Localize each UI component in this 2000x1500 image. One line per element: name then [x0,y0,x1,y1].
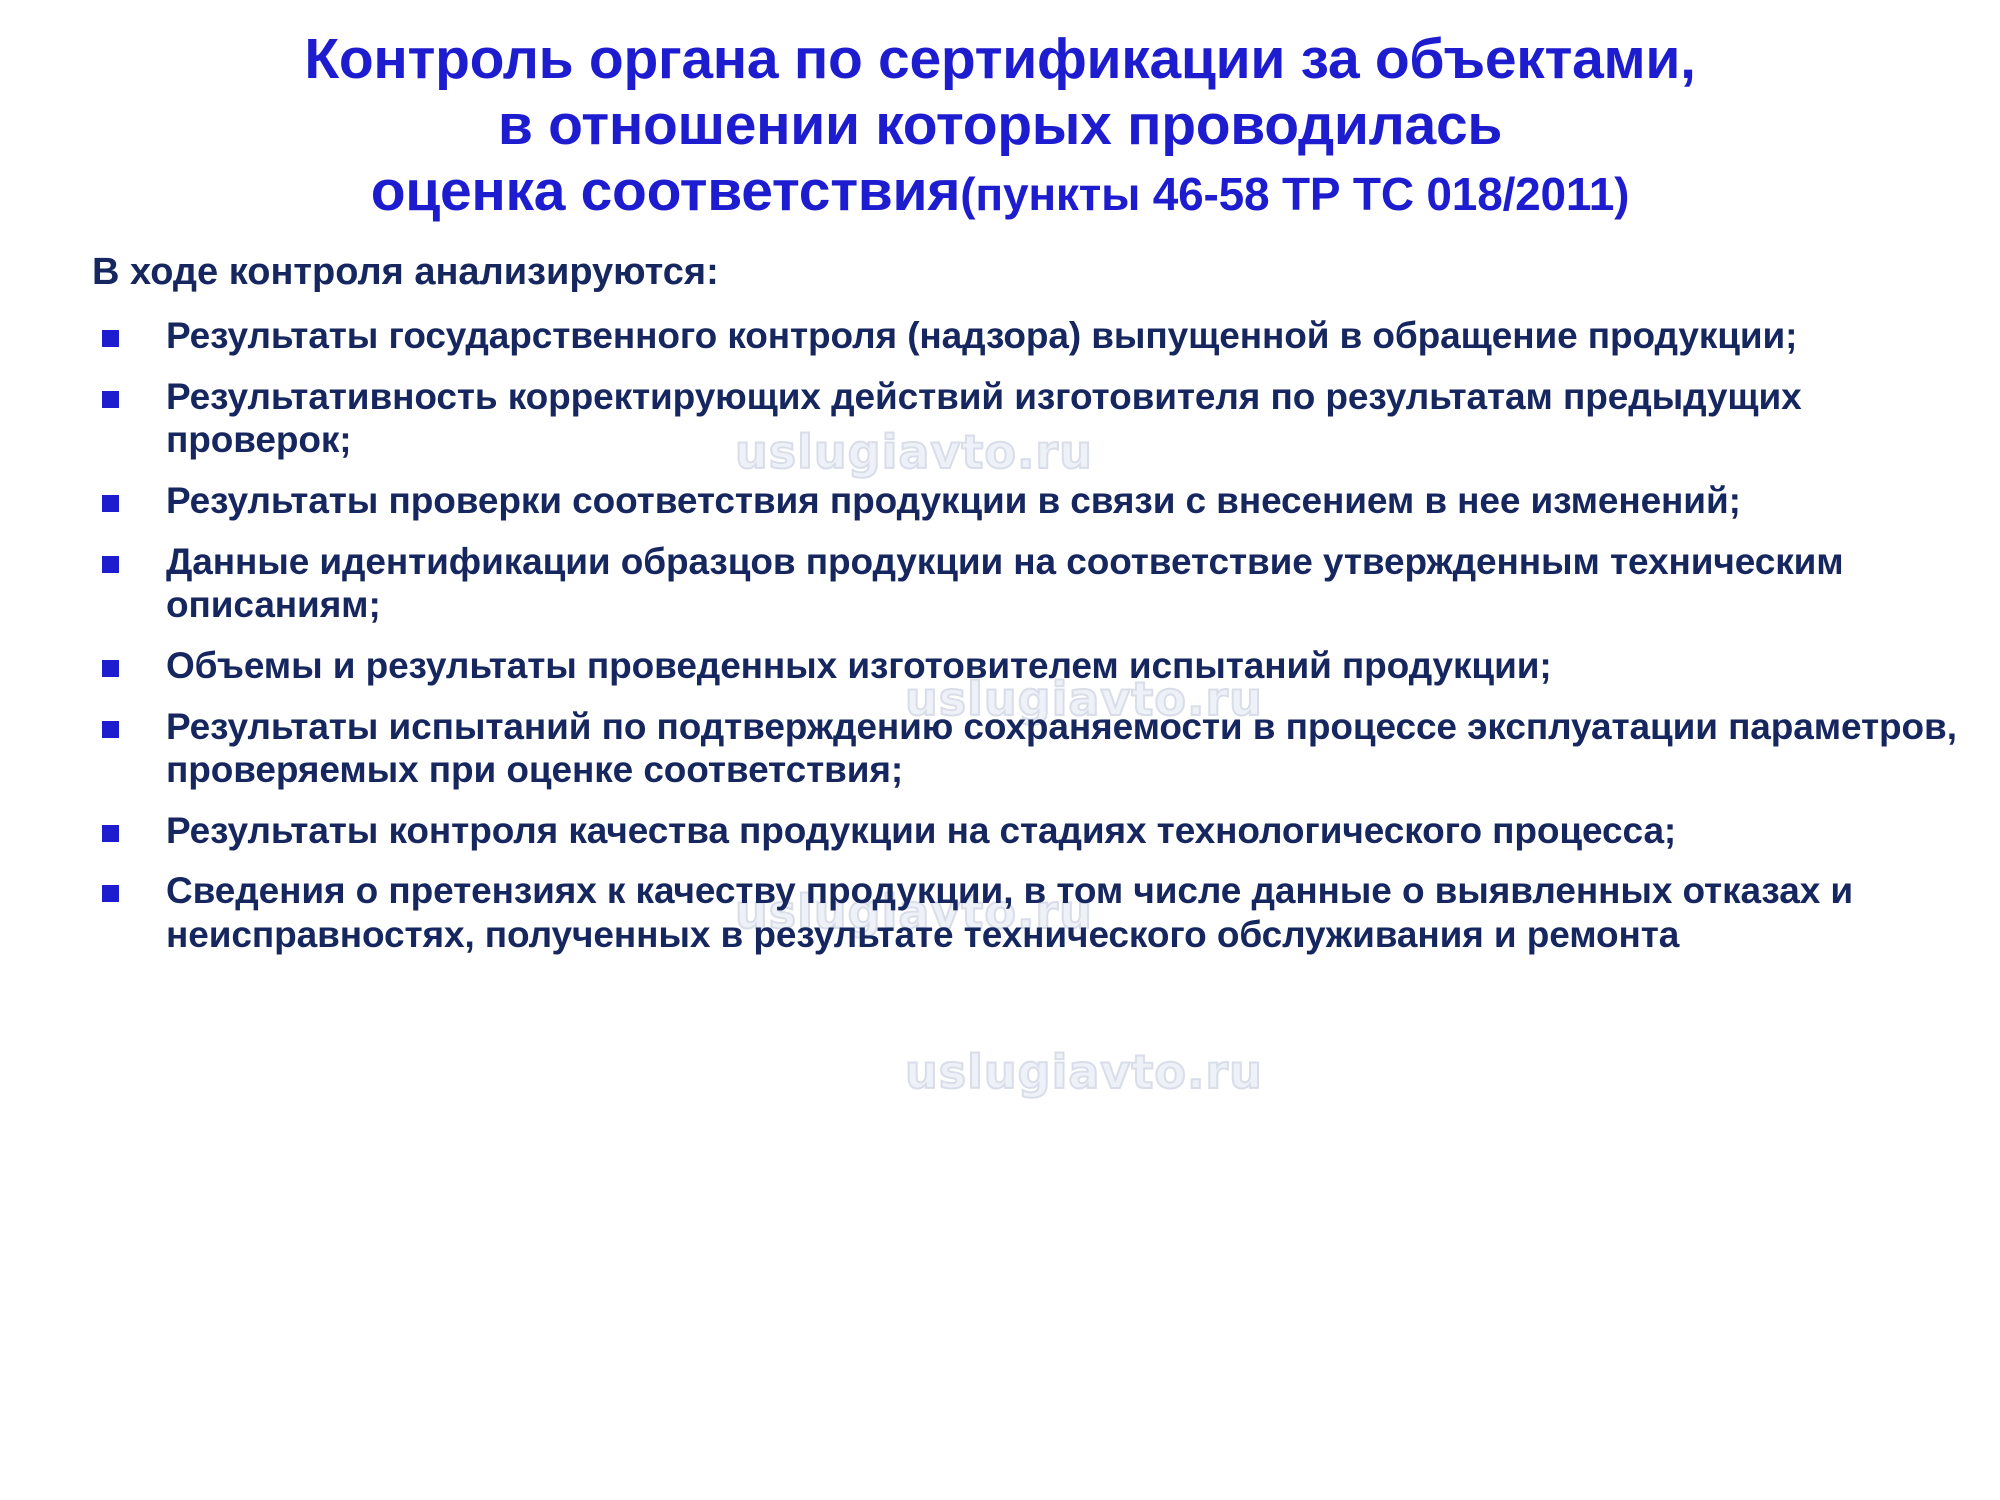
analysis-bullet-list: Результаты государственного контроля (на… [92,314,1960,957]
list-item: Результаты контроля качества продукции н… [92,809,1960,853]
list-item-label: Результаты контроля качества продукции н… [166,809,1960,853]
list-item-label: Объемы и результаты проведенных изготови… [166,644,1960,688]
square-bullet-icon [102,391,119,408]
intro-text: В ходе контроля анализируются: [92,250,1960,296]
title-line-3-main: оценка соответствия [371,159,961,223]
list-item-label: Результаты испытаний по подтверждению со… [166,705,1960,792]
list-item: Результаты испытаний по подтверждению со… [92,705,1960,792]
square-bullet-icon [102,660,119,677]
square-bullet-icon [102,825,119,842]
list-item: Результаты проверки соответствия продукц… [92,479,1960,523]
list-item: Результаты государственного контроля (на… [92,314,1960,358]
list-item-label: Результаты государственного контроля (на… [166,314,1960,358]
list-item-label: Результаты проверки соответствия продукц… [166,479,1960,523]
slide-body: В ходе контроля анализируются: Результат… [0,250,2000,956]
square-bullet-icon [102,495,119,512]
list-item-label: Данные идентификации образцов продукции … [166,540,1960,627]
square-bullet-icon [102,885,119,902]
slide-root: uslugiavto.ru uslugiavto.ru uslugiavto.r… [0,0,2000,1500]
slide-title: Контроль органа по сертификации за объек… [0,0,2000,224]
title-regulation-reference: (пункты 46-58 ТР ТС 018/2011) [960,168,1629,220]
list-item: Объемы и результаты проведенных изготови… [92,644,1960,688]
square-bullet-icon [102,721,119,738]
square-bullet-icon [102,556,119,573]
title-line-1: Контроль органа по сертификации за объек… [34,26,1966,92]
list-item: Результативность корректирующих действий… [92,375,1960,462]
list-item-label: Сведения о претензиях к качеству продукц… [166,869,1960,956]
list-item: Сведения о претензиях к качеству продукц… [92,869,1960,956]
title-line-3: оценка соответствия(пункты 46-58 ТР ТС 0… [34,158,1966,224]
watermark-text: uslugiavto.ru [905,1045,1263,1099]
list-item: Данные идентификации образцов продукции … [92,540,1960,627]
list-item-label: Результативность корректирующих действий… [166,375,1960,462]
title-line-2: в отношении которых проводилась [34,92,1966,158]
square-bullet-icon [102,330,119,347]
